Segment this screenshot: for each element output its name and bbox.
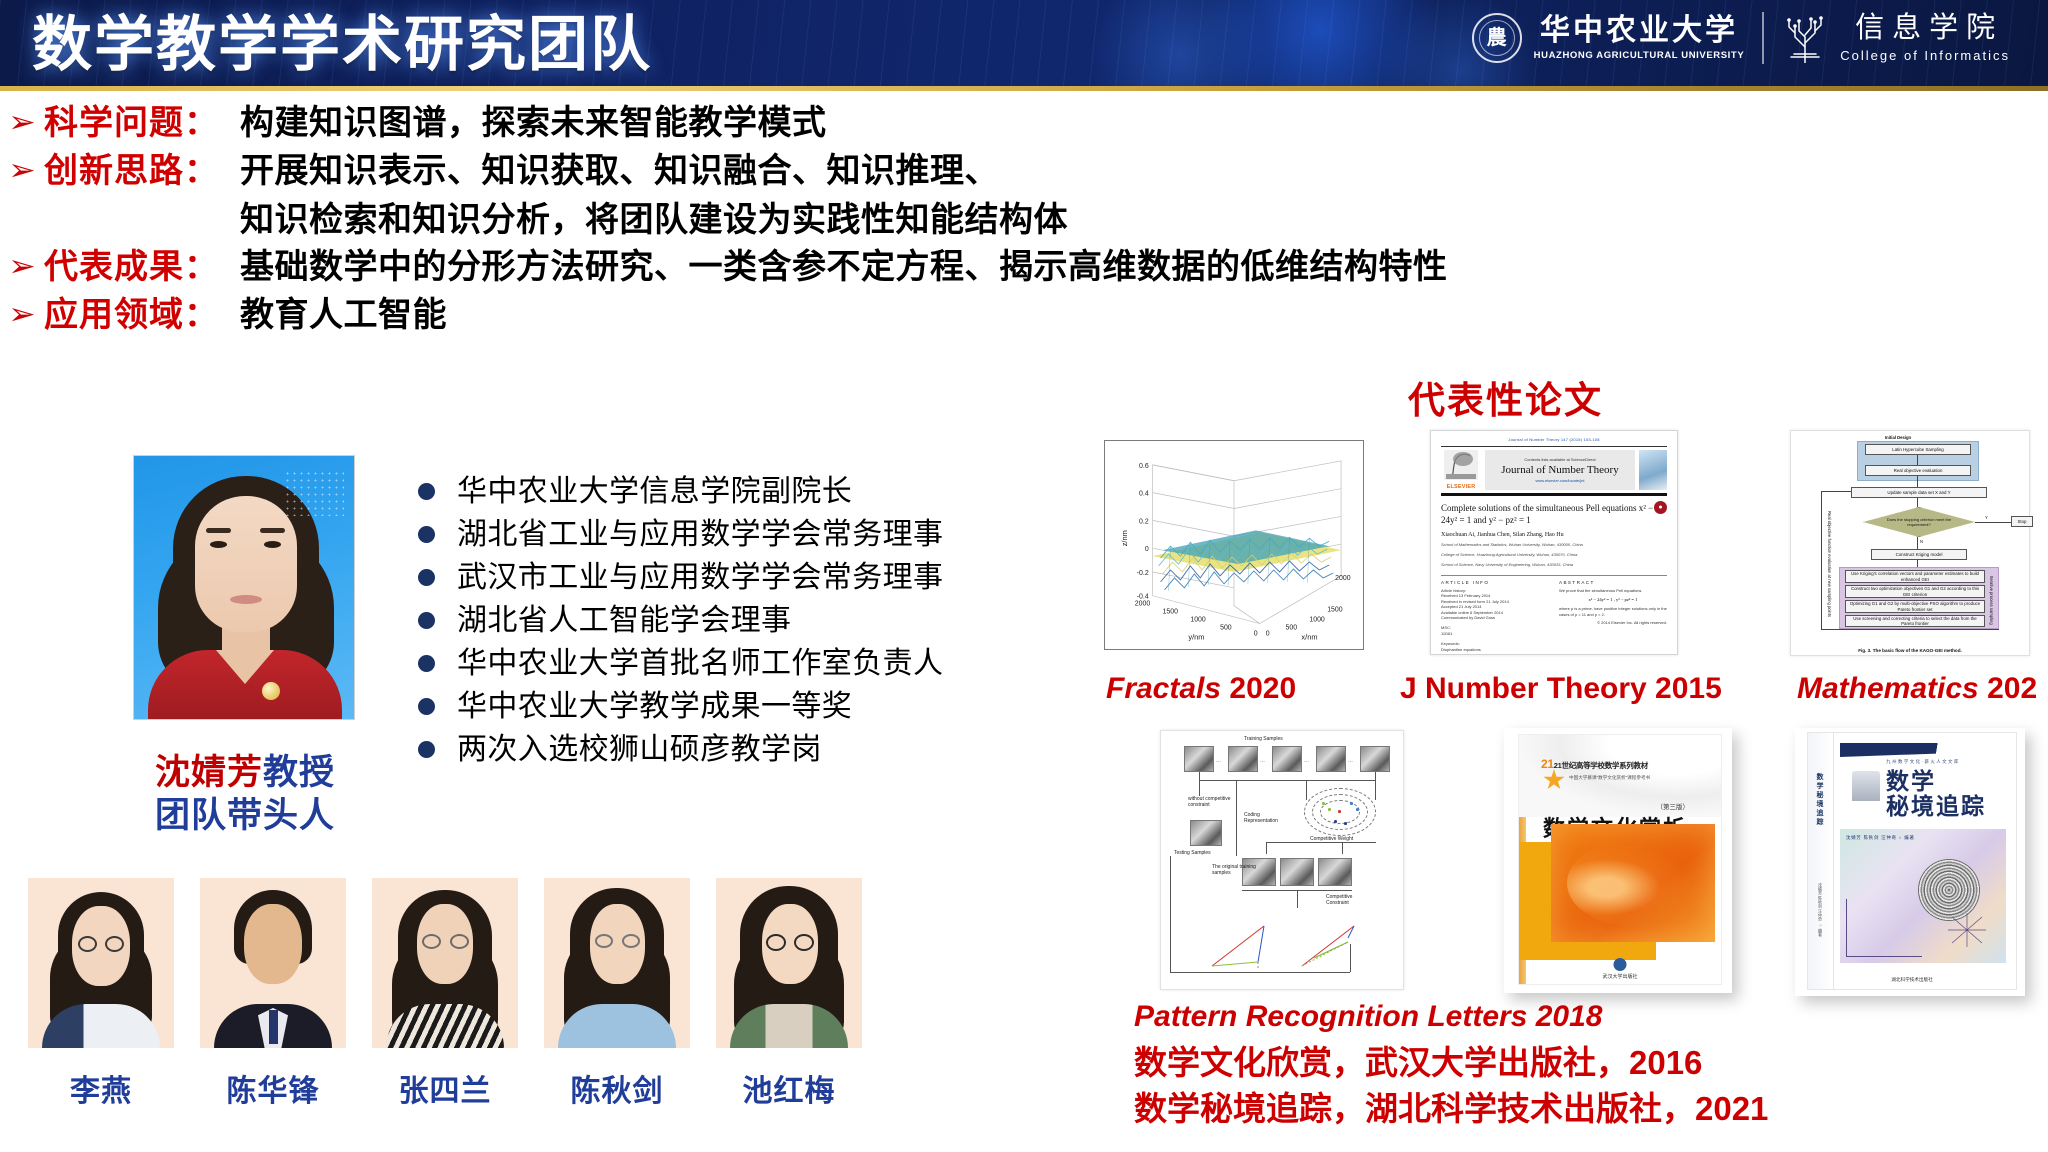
university-name-cn: 华中农业大学 bbox=[1540, 16, 1738, 46]
prl-diagram: Training Samples … … … … without competi… bbox=[1166, 736, 1398, 984]
book-kicker: 九州数学文化·薪火人文文库 bbox=[1840, 759, 2006, 765]
abstract-tail: where p is a prime, have positive intege… bbox=[1559, 606, 1667, 617]
svg-text:x/nm: x/nm bbox=[1301, 632, 1317, 641]
member-photo bbox=[544, 878, 690, 1048]
keywords-value: Diophantine equations bbox=[1441, 647, 1549, 652]
journal-running-head: Journal of Number Theory 147 (2015) 103-… bbox=[1441, 437, 1667, 442]
bullet-label-1: 创新思路： bbox=[44, 148, 240, 194]
book-edition: （第三版） bbox=[1657, 801, 1690, 811]
member-name: 张四兰 bbox=[372, 1066, 518, 1110]
member-photo bbox=[28, 878, 174, 1048]
flow-node: Use screening and correcting criteria to… bbox=[1845, 615, 1985, 627]
section-abstract: ABSTRACT bbox=[1559, 580, 1667, 585]
flow-node: Construct Kriging model bbox=[1871, 549, 1967, 560]
svg-text:0: 0 bbox=[1145, 546, 1149, 553]
abstract-equation: x² − 24y² = 1 , y² − pz² = 1 bbox=[1559, 597, 1667, 602]
list-item: 武汉市工业与应用数学学会常务理事 bbox=[418, 556, 943, 599]
flow-node: Update sample data set X and Y bbox=[1851, 487, 1987, 498]
figure-fractals-surface-plot: 0.60.40.2 0-0.2-0.4 z/nm 200015001000 50… bbox=[1104, 440, 1364, 650]
copyright-line: © 2014 Elsevier Inc. All rights reserved… bbox=[1559, 620, 1667, 625]
book-captions: 数学文化欣赏，武汉大学出版社，2016 数学秘境追踪，湖北科学技术出版社，202… bbox=[1134, 1040, 1768, 1132]
bullet-row-3: ➢ 应用领域： 教育人工智能 bbox=[0, 292, 2048, 338]
arrow-bullet-icon: ➢ bbox=[0, 148, 46, 194]
figure-mathematics-flowchart: Initial Design Latin Hypercube Sampling … bbox=[1790, 430, 2030, 656]
flow-node: Optimizing G1 and G2 by multi-objective … bbox=[1845, 600, 1985, 613]
svg-text:0: 0 bbox=[1266, 630, 1270, 637]
book-seal-icon bbox=[1852, 771, 1880, 801]
bullet-text-2: 基础数学中的分形方法研究、一类含参不定方程、揭示高维数据的低维结构特性 bbox=[240, 244, 1448, 290]
book-authors: 沈婧芳 陈秋剑 汪仲奇 ○ 编著 bbox=[1846, 835, 1915, 841]
flow-node: Use Kriging's correlation vectors and pa… bbox=[1845, 570, 1985, 583]
article-authors: Xiaochuan Ai, Jianhua Chen, Silan Zhang,… bbox=[1441, 532, 1667, 538]
team-member: 陈华锋 bbox=[200, 878, 346, 1110]
achievement-text: 华中农业大学信息学院副院长 bbox=[457, 470, 852, 513]
banner-gold-rule bbox=[0, 86, 2048, 91]
prl-original-label: The original training samples bbox=[1212, 864, 1256, 877]
leader-name-cn: 沈婧芳 bbox=[155, 753, 263, 792]
representative-papers-heading: 代表性论文 bbox=[1408, 370, 1603, 424]
logo-group: 農 华中农业大学 HUAZHONG AGRICULTURAL UNIVERSIT… bbox=[1472, 12, 2010, 64]
college-name-en: College of Informatics bbox=[1840, 49, 2010, 62]
axes-graphic bbox=[1944, 911, 1990, 949]
publisher-logo-icon bbox=[1614, 958, 1627, 971]
book-spine-title: 数学秘境追踪 bbox=[1814, 773, 1824, 827]
flow-decision: Does the stopping criterion meet the req… bbox=[1863, 507, 1975, 537]
achievement-text: 华中农业大学教学成果一等奖 bbox=[457, 685, 852, 728]
publisher-name: ELSEVIER bbox=[1447, 484, 1476, 490]
prl-vector-diagrams bbox=[1202, 912, 1382, 974]
bullet-dot-icon bbox=[418, 569, 435, 586]
figure-caption-fractals: Fractals 2020 bbox=[1106, 672, 1296, 706]
flow-node: Real objective evaluation bbox=[1865, 465, 1971, 476]
arrow-bullet-icon: ➢ bbox=[0, 292, 46, 338]
journal-name: Journal of Number Theory bbox=[1501, 464, 1618, 476]
list-item: 湖北省人工智能学会理事 bbox=[418, 599, 943, 642]
bullet-text-1-continued: 知识检索和知识分析，将团队建设为实践性知能结构体 bbox=[240, 196, 2048, 244]
achievement-text: 两次入选校狮山硕彦教学岗 bbox=[457, 728, 822, 771]
circuit-tree-icon bbox=[1782, 13, 1828, 63]
arrow-bullet-icon: ➢ bbox=[0, 100, 46, 146]
book-cover-shuxue-wenhua: 2121世纪高等学校数学系列教材 中国大学慕课“数学文化赏析”课程参考书 （第三… bbox=[1504, 728, 1732, 993]
book-title-line1: 数学 bbox=[1886, 769, 1936, 794]
caption-journal: Pattern Recognition Letters bbox=[1134, 1000, 1527, 1033]
svg-text:0.6: 0.6 bbox=[1139, 463, 1149, 470]
university-seal-icon: 農 bbox=[1472, 13, 1522, 63]
achievement-text: 湖北省工业与应用数学学会常务理事 bbox=[457, 513, 943, 556]
book-title: 数学 秘境追踪 bbox=[1886, 769, 1986, 819]
figure-caption-prl: Pattern Recognition Letters 2018 bbox=[1134, 1000, 1602, 1034]
seal-glyph: 農 bbox=[1474, 15, 1520, 61]
svg-text:1500: 1500 bbox=[1327, 607, 1343, 614]
team-member: 陈秋剑 bbox=[544, 878, 690, 1110]
header-banner: 数学教学学术研究团队 農 华中农业大学 HUAZHONG AGRICULTURA… bbox=[0, 0, 2048, 90]
svg-text:2000: 2000 bbox=[1335, 575, 1351, 582]
book-caption-1: 数学秘境追踪，湖北科学技术出版社，2021 bbox=[1134, 1086, 1768, 1132]
member-photo bbox=[372, 878, 518, 1048]
book-cover-shuxue-mijing: 数学秘境追踪 沈婧芳 陈秋剑 汪仲奇 ○ 编著 九州数学文化·薪火人文文库 数学… bbox=[1795, 728, 2025, 996]
svg-text:1000: 1000 bbox=[1309, 617, 1325, 624]
journal-cover-thumb bbox=[1639, 450, 1667, 490]
achievement-text: 湖北省人工智能学会理事 bbox=[457, 599, 791, 642]
caption-year: 2020 bbox=[1229, 672, 1296, 705]
bullet-label-3: 应用领域： bbox=[44, 292, 240, 338]
caption-journal: Fractals bbox=[1106, 672, 1221, 705]
journal-url: www.elsevier.com/locate/jnt bbox=[1536, 478, 1585, 483]
prl-constraint-label: Competitive Constraint bbox=[1326, 894, 1372, 907]
affiliation-1: College of Science, Huazhong Agricultura… bbox=[1441, 552, 1667, 558]
prl-without-label: without competitive constraint bbox=[1188, 796, 1236, 809]
flow-yes-label: Y bbox=[1985, 515, 1988, 520]
prl-testing-label: Testing Samples bbox=[1174, 850, 1211, 856]
svg-text:0.4: 0.4 bbox=[1139, 491, 1149, 498]
svg-text:500: 500 bbox=[1286, 624, 1298, 631]
series-number: 21 bbox=[1541, 757, 1554, 771]
flow-stop: Stop bbox=[2011, 516, 2033, 527]
flow-left-label: Real objective function evaluation at ne… bbox=[1827, 509, 1832, 619]
svg-text:-0.2: -0.2 bbox=[1137, 570, 1149, 577]
member-name: 李燕 bbox=[28, 1066, 174, 1110]
svg-text:500: 500 bbox=[1220, 624, 1232, 631]
book-spine-authors: 沈婧芳 陈秋剑 汪仲奇 ○ 编著 bbox=[1817, 883, 1823, 936]
list-item: 湖北省工业与应用数学学会常务理事 bbox=[418, 513, 943, 556]
leader-title: 教授 bbox=[263, 753, 335, 792]
section-article-info: ARTICLE INFO bbox=[1441, 580, 1549, 585]
book-series-label: 2121世纪高等学校数学系列教材 bbox=[1541, 757, 1648, 771]
bullet-dot-icon bbox=[418, 741, 435, 758]
page-title: 数学教学学术研究团队 bbox=[32, 4, 652, 86]
university-logo: 農 华中农业大学 HUAZHONG AGRICULTURAL UNIVERSIT… bbox=[1472, 13, 1745, 63]
affiliation-2: School of Science, Navy University of En… bbox=[1441, 562, 1667, 568]
achievement-text: 武汉市工业与应用数学学会常务理事 bbox=[457, 556, 943, 599]
bullet-row-0: ➢ 科学问题： 构建知识图谱，探索未来智能教学模式 bbox=[0, 100, 2048, 146]
book-caption-0: 数学文化欣赏，武汉大学出版社，2016 bbox=[1134, 1040, 1768, 1086]
overview-bullets: ➢ 科学问题： 构建知识图谱，探索未来智能教学模式 ➢ 创新思路： 开展知识表示… bbox=[0, 100, 2048, 340]
figure-caption-jnt: J Number Theory 2015 bbox=[1400, 672, 1722, 706]
member-photo bbox=[200, 878, 346, 1048]
svg-text:-0.4: -0.4 bbox=[1137, 594, 1149, 601]
college-name-cn: 信息学院 bbox=[1847, 14, 2003, 43]
member-photo bbox=[716, 878, 862, 1048]
list-item: 华中农业大学首批名师工作室负责人 bbox=[418, 642, 943, 685]
bullet-row-2: ➢ 代表成果： 基础数学中的分形方法研究、一类含参不定方程、揭示高维数据的低维结… bbox=[0, 244, 2048, 290]
flow-right-label: Iterative process sampling bbox=[1989, 575, 1994, 625]
series-text: 21世纪高等学校数学系列教材 bbox=[1554, 761, 1648, 770]
university-name-en: HUAZHONG AGRICULTURAL UNIVERSITY bbox=[1534, 51, 1745, 61]
svg-text:2000: 2000 bbox=[1135, 601, 1151, 608]
team-member: 张四兰 bbox=[372, 878, 518, 1110]
contents-line: Contents lists available at ScienceDirec… bbox=[1524, 457, 1595, 462]
svg-text:0: 0 bbox=[1254, 630, 1258, 637]
abstract-text: We prove that the simultaneous Pell equa… bbox=[1559, 588, 1667, 593]
msc-value: 11D61 bbox=[1441, 631, 1549, 636]
list-item: 两次入选校狮山硕彦教学岗 bbox=[418, 728, 943, 771]
prl-coding-label: Coding Representation bbox=[1244, 812, 1294, 825]
arrow-bullet-icon: ➢ bbox=[0, 244, 46, 290]
history-line: Communicated by David Goss bbox=[1441, 615, 1549, 620]
flow-no-label: N bbox=[1920, 539, 1923, 544]
leader-role: 团队带头人 bbox=[110, 795, 380, 837]
caption-journal: Mathematics bbox=[1797, 672, 1979, 705]
figure-pattern-recognition-diagram: Training Samples … … … … without competi… bbox=[1160, 730, 1404, 990]
caption-year: 202 bbox=[1987, 672, 2037, 705]
bullet-text-3: 教育人工智能 bbox=[240, 292, 447, 338]
college-logo: 信息学院 College of Informatics bbox=[1782, 13, 2010, 63]
svg-text:0.2: 0.2 bbox=[1139, 518, 1149, 525]
team-member: 李燕 bbox=[28, 878, 174, 1110]
flowchart: Initial Design Latin Hypercube Sampling … bbox=[1799, 435, 2021, 631]
member-name: 池红梅 bbox=[716, 1066, 862, 1110]
flow-node: Construct two optimization objectives G1… bbox=[1845, 585, 1985, 598]
book-subtitle: 中国大学慕课“数学文化赏析”课程参考书 bbox=[1569, 775, 1650, 781]
list-item: 华中农业大学信息学院副院长 bbox=[418, 470, 943, 513]
svg-text:y/nm: y/nm bbox=[1188, 632, 1204, 641]
prl-training-label: Training Samples bbox=[1244, 736, 1283, 742]
svg-text:1500: 1500 bbox=[1163, 609, 1179, 616]
book-publisher: 湖北科学技术出版社 bbox=[1808, 977, 2016, 983]
bullet-label-0: 科学问题： bbox=[44, 100, 240, 146]
crossmark-icon: ● bbox=[1654, 501, 1667, 514]
bullet-text-1: 开展知识表示、知识获取、知识融合、知识推理、 bbox=[240, 148, 999, 194]
book-publisher: 武汉大学出版社 bbox=[1519, 973, 1721, 980]
elsevier-tree-icon bbox=[1444, 450, 1478, 480]
flowchart-caption: Fig. 3. The basic flow of the KAGO-GEI m… bbox=[1791, 648, 2029, 653]
leader-name: 沈婧芳教授 bbox=[110, 752, 380, 794]
affiliation-0: School of Mathematics and Statistics, Wu… bbox=[1441, 542, 1667, 548]
leader-portrait bbox=[133, 455, 355, 720]
geometry-graphic bbox=[1846, 899, 1922, 957]
bullet-dot-icon bbox=[418, 655, 435, 672]
team-member-row: 李燕 陈华锋 张四兰 陈秋剑 bbox=[28, 878, 862, 1110]
article-title: Complete solutions of the simultaneous P… bbox=[1441, 502, 1667, 526]
team-member: 池红梅 bbox=[716, 878, 862, 1110]
figure-journal-number-theory: Journal of Number Theory 147 (2015) 103-… bbox=[1430, 430, 1678, 655]
bullet-dot-icon bbox=[418, 526, 435, 543]
portrait-dot-pattern bbox=[284, 470, 344, 516]
flow-node: Latin Hypercube Sampling bbox=[1865, 444, 1971, 455]
achievement-text: 华中农业大学首批名师工作室负责人 bbox=[457, 642, 943, 685]
figure-caption-mathematics: Mathematics 202 bbox=[1797, 672, 2037, 706]
member-name: 陈秋剑 bbox=[544, 1066, 690, 1110]
bullet-dot-icon bbox=[418, 698, 435, 715]
list-item: 华中农业大学教学成果一等奖 bbox=[418, 685, 943, 728]
svg-text:1000: 1000 bbox=[1190, 617, 1206, 624]
achievement-list: 华中农业大学信息学院副院长 湖北省工业与应用数学学会常务理事 武汉市工业与应用数… bbox=[418, 470, 943, 771]
book-title-line2: 秘境追踪 bbox=[1886, 794, 1986, 819]
logo-divider bbox=[1762, 12, 1764, 64]
svg-text:z/nm: z/nm bbox=[1120, 530, 1129, 546]
bullet-text-0: 构建知识图谱，探索未来智能教学模式 bbox=[240, 100, 827, 146]
member-name: 陈华锋 bbox=[200, 1066, 346, 1110]
bullet-label-2: 代表成果： bbox=[44, 244, 240, 290]
surface-plot-svg: 0.60.40.2 0-0.2-0.4 z/nm 200015001000 50… bbox=[1111, 447, 1357, 643]
bullet-dot-icon bbox=[418, 483, 435, 500]
bullet-dot-icon bbox=[418, 612, 435, 629]
bullet-row-1: ➢ 创新思路： 开展知识表示、知识获取、知识融合、知识推理、 bbox=[0, 148, 2048, 194]
flow-initial-design-label: Initial Design bbox=[1885, 435, 1911, 440]
caption-year: 2018 bbox=[1536, 1000, 1603, 1033]
